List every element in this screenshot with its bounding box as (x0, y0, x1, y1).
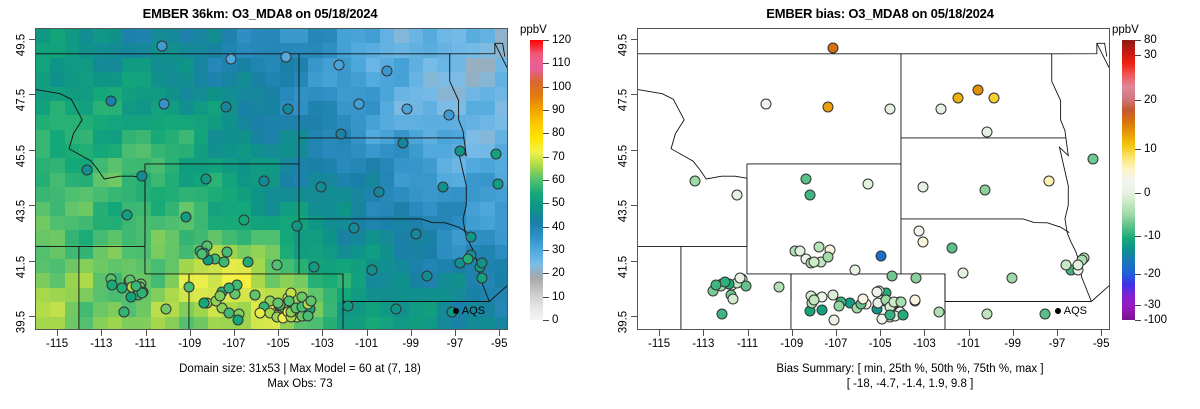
state-boundary-line (901, 274, 1091, 302)
station-marker[interactable] (349, 223, 360, 234)
x-tick (969, 330, 970, 336)
y-tick-label: 43.5 (15, 200, 27, 222)
colorbar-tick-label: 80 (1144, 34, 1157, 46)
station-marker[interactable] (366, 265, 377, 276)
model-caption-line2: Max Obs: 73 (0, 377, 600, 392)
station-marker[interactable] (254, 307, 265, 318)
station-marker[interactable] (243, 256, 254, 267)
colorbar-tick-label: -100 (1144, 314, 1167, 326)
state-boundary-line (299, 274, 489, 302)
y-tick-label: 45.5 (617, 145, 629, 167)
colorbar-tick-label: -10 (1144, 230, 1161, 242)
state-boundary-line (1060, 138, 1069, 205)
x-tick-label: -111 (135, 338, 156, 350)
x-tick (322, 330, 323, 336)
station-marker[interactable] (973, 84, 984, 95)
y-tick (631, 261, 637, 262)
colorbar-tick (1135, 274, 1141, 275)
y-tick (29, 39, 35, 40)
station-marker[interactable] (159, 98, 170, 109)
station-marker[interactable] (828, 315, 839, 326)
colorbar-tick (543, 87, 549, 88)
x-tick-label: -99 (1004, 338, 1021, 350)
station-marker[interactable] (884, 309, 895, 320)
station-marker[interactable] (437, 181, 448, 192)
station-marker[interactable] (1044, 176, 1055, 187)
x-tick-label: -95 (1093, 338, 1110, 350)
x-tick-label: -103 (311, 338, 334, 350)
y-tick-label: 39.5 (15, 311, 27, 333)
model-caption: Domain size: 31x53 | Max Model = 60 at (… (0, 362, 600, 392)
colorbar-tick-label: -20 (1144, 268, 1161, 280)
state-boundary-line (638, 43, 1107, 56)
bias-colorbar-gradient (1122, 40, 1135, 320)
station-marker[interactable] (957, 267, 968, 278)
colorbar-tick (1135, 100, 1141, 101)
x-tick-label: -99 (402, 338, 419, 350)
station-marker[interactable] (444, 109, 455, 120)
station-marker[interactable] (822, 251, 833, 262)
colorbar-tick-label: 10 (552, 291, 565, 303)
station-marker[interactable] (1073, 259, 1084, 270)
x-tick (703, 330, 704, 336)
x-tick-label: -113 (692, 338, 714, 350)
y-tick (29, 150, 35, 151)
y-tick-label: 47.5 (15, 89, 27, 111)
station-marker[interactable] (201, 173, 212, 184)
station-marker[interactable] (800, 173, 811, 184)
x-tick (792, 330, 793, 336)
station-marker[interactable] (271, 259, 282, 270)
station-marker[interactable] (466, 231, 477, 242)
station-marker[interactable] (935, 104, 946, 115)
model-caption-line1: Domain size: 31x53 | Max Model = 60 at (… (0, 362, 600, 377)
station-marker[interactable] (1061, 259, 1072, 270)
y-tick-label: 41.5 (15, 256, 27, 278)
station-marker[interactable] (106, 96, 117, 107)
x-tick (924, 330, 925, 336)
station-marker[interactable] (272, 298, 283, 309)
model-colorbar-unit: ppbV (520, 24, 547, 36)
x-tick-label: -115 (648, 338, 670, 350)
bias-panel-title: EMBER bias: O3_MDA8 on 05/18/2024 (620, 6, 1140, 21)
station-marker[interactable] (735, 272, 746, 283)
station-marker[interactable] (1088, 154, 1099, 165)
x-tick (455, 330, 456, 336)
station-marker[interactable] (823, 101, 834, 112)
station-marker[interactable] (982, 309, 993, 320)
model-map-plot[interactable]: AQS (35, 28, 508, 330)
x-tick (748, 330, 749, 336)
x-tick-label: -101 (957, 338, 980, 350)
y-tick-label: 41.5 (617, 256, 629, 278)
x-tick (57, 330, 58, 336)
colorbar-tick (1135, 305, 1141, 306)
bias-panel: EMBER bias: O3_MDA8 on 05/18/2024 AQS -1… (600, 0, 1200, 409)
station-marker[interactable] (119, 306, 130, 317)
station-marker[interactable] (918, 237, 929, 248)
bias-colorbar: ppbV 803020100-10-20-30-100 (1116, 40, 1200, 320)
station-marker[interactable] (690, 176, 701, 187)
station-marker[interactable] (137, 170, 148, 181)
station-marker[interactable] (953, 93, 964, 104)
y-tick-label: 49.5 (617, 34, 629, 56)
bias-caption-line1: Bias Summary: [ min, 25th %, 50th %, 75t… (610, 362, 1200, 377)
station-marker[interactable] (382, 65, 393, 76)
station-marker[interactable] (476, 258, 487, 269)
station-marker[interactable] (727, 294, 738, 305)
x-tick (659, 330, 660, 336)
station-marker[interactable] (897, 310, 908, 321)
x-tick (411, 330, 412, 336)
station-marker[interactable] (218, 257, 229, 268)
station-marker[interactable] (411, 229, 422, 240)
y-tick (631, 94, 637, 95)
colorbar-tick (543, 157, 549, 158)
station-marker[interactable] (199, 298, 210, 309)
station-marker[interactable] (913, 226, 924, 237)
station-marker[interactable] (342, 301, 353, 312)
station-marker[interactable] (887, 270, 898, 281)
station-marker[interactable] (946, 242, 957, 253)
state-boundary-line (299, 219, 467, 233)
x-tick (190, 330, 191, 336)
station-marker[interactable] (397, 137, 408, 148)
y-tick-label: 43.5 (617, 200, 629, 222)
x-tick-label: -111 (737, 338, 758, 350)
bias-caption-line2: [ -18, -4.7, -1.4, 1.9, 9.8 ] (610, 377, 1200, 392)
x-tick-label: -109 (178, 338, 201, 350)
colorbar-tick (543, 297, 549, 298)
y-tick (631, 150, 637, 151)
station-marker[interactable] (249, 289, 260, 300)
station-marker[interactable] (876, 251, 887, 262)
station-marker[interactable] (353, 98, 364, 109)
colorbar-tick-label: 10 (1144, 143, 1157, 155)
station-marker[interactable] (857, 294, 868, 305)
station-marker[interactable] (233, 314, 244, 325)
station-marker[interactable] (258, 176, 269, 187)
station-marker[interactable] (333, 60, 344, 71)
colorbar-tick-label: 40 (552, 221, 565, 233)
station-marker[interactable] (306, 295, 317, 306)
colorbar-tick (1135, 149, 1141, 150)
station-marker[interactable] (125, 292, 136, 303)
station-marker[interactable] (161, 303, 172, 314)
station-marker[interactable] (988, 93, 999, 104)
y-tick-label: 45.5 (15, 145, 27, 167)
x-tick-label: -107 (824, 338, 847, 350)
station-marker[interactable] (130, 280, 141, 291)
aqs-legend: AQS (453, 305, 485, 317)
colorbar-tick (543, 40, 549, 41)
station-marker[interactable] (224, 283, 235, 294)
station-marker[interactable] (827, 43, 838, 54)
colorbar-tick (1135, 236, 1141, 237)
x-tick (146, 330, 147, 336)
station-marker[interactable] (316, 181, 327, 192)
station-marker[interactable] (761, 98, 772, 109)
station-marker[interactable] (280, 51, 291, 62)
colorbar-tick (543, 110, 549, 111)
y-tick-label: 49.5 (15, 34, 27, 56)
colorbar-tick (543, 63, 549, 64)
station-marker[interactable] (197, 249, 208, 260)
model-x-axis: -115-113-111-109-107-105-103-101-99-97-9… (35, 330, 508, 356)
station-marker[interactable] (808, 256, 819, 267)
x-tick (234, 330, 235, 336)
station-marker[interactable] (490, 148, 501, 159)
colorbar-tick (543, 227, 549, 228)
station-marker[interactable] (455, 145, 466, 156)
x-tick (499, 330, 500, 336)
x-tick-label: -107 (222, 338, 245, 350)
station-marker[interactable] (238, 215, 249, 226)
colorbar-tick-label: 90 (552, 104, 565, 116)
x-tick-label: -115 (46, 338, 68, 350)
colorbar-tick-label: 0 (552, 314, 558, 326)
aqs-dot-icon (453, 308, 459, 314)
bias-colorbar-unit: ppbV (1112, 24, 1139, 36)
station-marker[interactable] (814, 241, 825, 252)
y-tick (631, 205, 637, 206)
y-tick-label: 47.5 (617, 89, 629, 111)
state-boundaries (638, 29, 1109, 329)
station-marker[interactable] (1006, 273, 1017, 284)
aqs-legend-label: AQS (462, 305, 485, 317)
station-marker[interactable] (817, 304, 828, 315)
colorbar-tick-label: 100 (552, 81, 571, 93)
colorbar-tick-label: 20 (1144, 94, 1157, 106)
station-marker[interactable] (933, 306, 944, 317)
station-marker[interactable] (223, 308, 234, 319)
station-marker[interactable] (805, 190, 816, 201)
station-marker[interactable] (477, 272, 488, 283)
model-colorbar-gradient (530, 40, 543, 320)
station-marker[interactable] (181, 212, 192, 223)
x-tick (1013, 330, 1014, 336)
state-boundary-line (450, 54, 464, 138)
state-boundary-line (1052, 54, 1066, 138)
x-tick-label: -97 (447, 338, 464, 350)
state-boundary-line (638, 90, 747, 179)
x-tick (880, 330, 881, 336)
station-marker[interactable] (982, 126, 993, 137)
colorbar-tick (1135, 40, 1141, 41)
station-marker[interactable] (462, 254, 473, 265)
station-marker[interactable] (884, 104, 895, 115)
x-tick-label: -97 (1049, 338, 1066, 350)
bias-map-plot[interactable]: AQS (637, 28, 1110, 330)
x-tick-label: -105 (267, 338, 290, 350)
station-marker[interactable] (225, 54, 236, 65)
station-marker[interactable] (716, 309, 727, 320)
y-tick-label: 39.5 (617, 311, 629, 333)
y-tick (29, 94, 35, 95)
colorbar-tick-label: 20 (552, 267, 565, 279)
station-marker[interactable] (391, 303, 402, 314)
y-tick (29, 205, 35, 206)
station-marker[interactable] (1039, 309, 1050, 320)
colorbar-tick (543, 203, 549, 204)
colorbar-tick (1135, 320, 1141, 321)
model-panel: EMBER 36km: O3_MDA8 on 05/18/2024 AQS -1… (0, 0, 600, 409)
y-tick (29, 261, 35, 262)
colorbar-tick-label: 120 (552, 34, 571, 46)
station-marker[interactable] (862, 179, 873, 190)
station-marker[interactable] (402, 104, 413, 115)
x-tick-label: -113 (90, 338, 112, 350)
aqs-legend-label: AQS (1064, 305, 1087, 317)
station-marker[interactable] (849, 265, 860, 276)
y-tick (29, 316, 35, 317)
y-tick (631, 39, 637, 40)
x-tick-label: -103 (913, 338, 936, 350)
colorbar-tick-label: 30 (552, 244, 565, 256)
station-marker[interactable] (895, 297, 906, 308)
station-marker[interactable] (909, 295, 920, 306)
colorbar-tick-label: 50 (552, 197, 565, 209)
state-boundary-line (489, 286, 507, 302)
station-marker[interactable] (492, 179, 503, 190)
station-marker[interactable] (183, 281, 194, 292)
state-boundary-line (1097, 43, 1109, 67)
colorbar-tick (543, 273, 549, 274)
colorbar-tick (543, 320, 549, 321)
colorbar-tick-label: 0 (1144, 187, 1150, 199)
station-marker[interactable] (732, 190, 743, 201)
colorbar-tick (543, 180, 549, 181)
x-tick-label: -101 (355, 338, 378, 350)
x-tick (367, 330, 368, 336)
bias-y-axis: 39.541.543.545.547.549.5 (611, 28, 637, 330)
colorbar-tick-label: 60 (552, 174, 565, 186)
x-tick-label: -95 (491, 338, 508, 350)
x-tick (836, 330, 837, 336)
station-marker[interactable] (918, 181, 929, 192)
station-marker[interactable] (774, 281, 785, 292)
state-boundary-line (36, 43, 505, 56)
station-marker[interactable] (282, 104, 293, 115)
state-boundary-line (1091, 286, 1109, 302)
state-boundary-line (495, 43, 507, 67)
station-marker[interactable] (215, 291, 226, 302)
bias-x-axis: -115-113-111-109-107-105-103-101-99-97-9… (637, 330, 1110, 356)
x-tick (1101, 330, 1102, 336)
station-marker[interactable] (373, 187, 384, 198)
station-marker[interactable] (336, 129, 347, 140)
colorbar-tick (1135, 193, 1141, 194)
station-marker[interactable] (121, 209, 132, 220)
x-tick-label: -109 (780, 338, 803, 350)
station-marker[interactable] (711, 280, 722, 291)
station-marker[interactable] (309, 262, 320, 273)
x-tick (278, 330, 279, 336)
station-marker[interactable] (81, 165, 92, 176)
x-tick (101, 330, 102, 336)
model-y-axis: 39.541.543.545.547.549.5 (9, 28, 35, 330)
model-panel-title: EMBER 36km: O3_MDA8 on 05/18/2024 (0, 6, 520, 21)
colorbar-tick-label: 110 (552, 57, 570, 69)
station-marker[interactable] (794, 245, 805, 256)
station-marker[interactable] (422, 270, 433, 281)
colorbar-tick (543, 250, 549, 251)
bias-caption: Bias Summary: [ min, 25th %, 50th %, 75t… (610, 362, 1200, 392)
station-marker[interactable] (980, 184, 991, 195)
station-marker[interactable] (911, 273, 922, 284)
colorbar-tick (1135, 55, 1141, 56)
station-marker[interactable] (221, 101, 232, 112)
state-boundary-line (901, 219, 1069, 233)
station-marker[interactable] (291, 220, 302, 231)
colorbar-tick-label: 70 (552, 151, 565, 163)
station-marker[interactable] (834, 300, 845, 311)
y-tick (631, 316, 637, 317)
x-tick-label: -105 (869, 338, 892, 350)
station-marker[interactable] (827, 289, 838, 300)
colorbar-tick-label: -30 (1144, 299, 1161, 311)
aqs-legend: AQS (1055, 305, 1087, 317)
aqs-dot-icon (1055, 308, 1061, 314)
station-marker[interactable] (809, 295, 820, 306)
x-tick (1057, 330, 1058, 336)
colorbar-tick (543, 133, 549, 134)
colorbar-tick-label: 30 (1144, 49, 1157, 61)
station-marker[interactable] (156, 40, 167, 51)
colorbar-tick-label: 80 (552, 127, 565, 139)
